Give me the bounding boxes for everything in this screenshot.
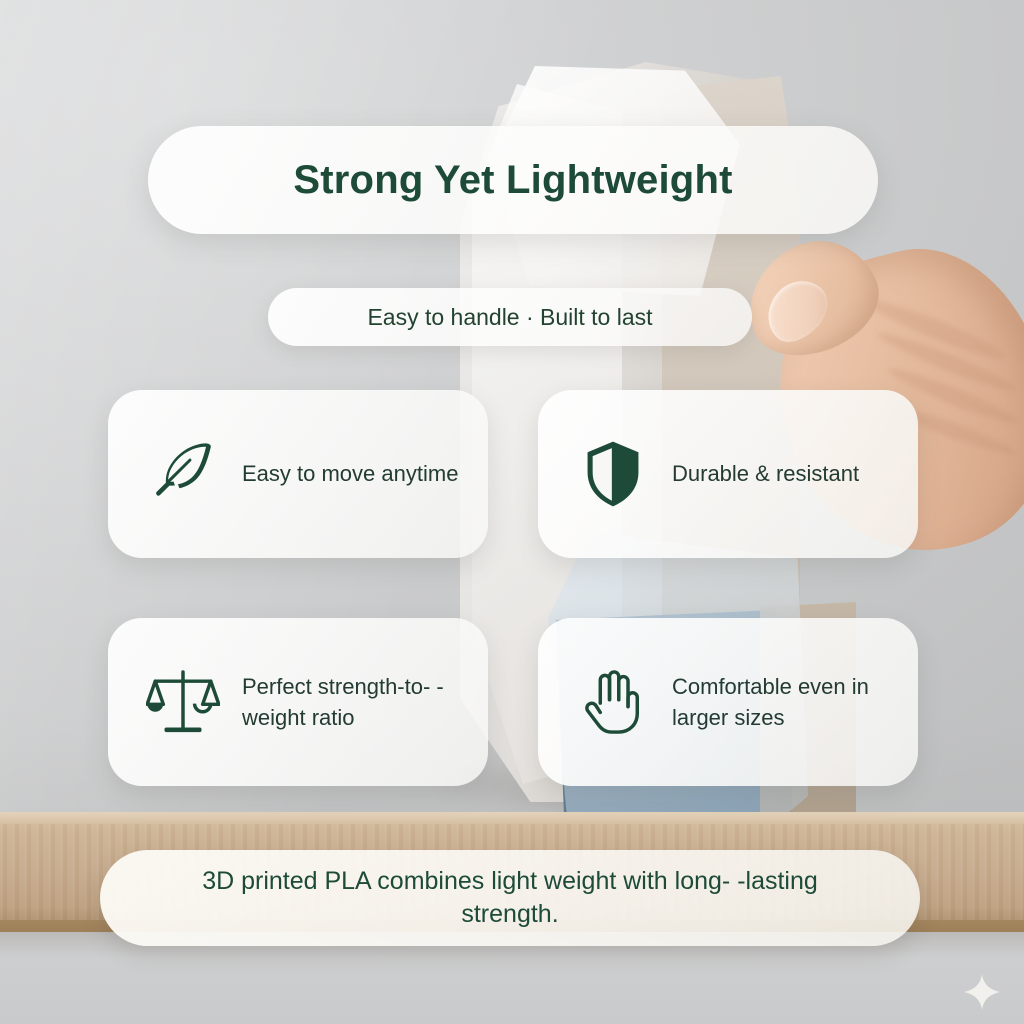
page-subtitle: Easy to handle · Built to last [367, 304, 652, 331]
title-pill: Strong Yet Lightweight [148, 126, 878, 234]
caption-text: 3D printed PLA combines light weight wit… [160, 865, 860, 932]
feature-label: Durable & resistant [672, 458, 859, 489]
feature-card-comfortable[interactable]: Comfortable even in larger sizes [538, 618, 918, 786]
feather-icon [144, 435, 222, 513]
feature-label: Perfect strength-to- -weight ratio [242, 671, 466, 733]
page-title: Strong Yet Lightweight [293, 158, 732, 203]
scales-icon [144, 663, 222, 741]
caption-pill: 3D printed PLA combines light weight wit… [100, 850, 920, 946]
feature-label: Comfortable even in larger sizes [672, 671, 896, 733]
hand-icon [574, 663, 652, 741]
overlay-ui: Strong Yet Lightweight Easy to handle · … [0, 0, 1024, 1024]
sparkle-icon [962, 972, 1002, 1012]
feature-card-durable[interactable]: Durable & resistant [538, 390, 918, 558]
feature-card-easy-to-move[interactable]: Easy to move anytime [108, 390, 488, 558]
shield-icon [574, 435, 652, 513]
infographic-stage: Strong Yet Lightweight Easy to handle · … [0, 0, 1024, 1024]
subtitle-pill: Easy to handle · Built to last [268, 288, 752, 346]
feature-label: Easy to move anytime [242, 458, 458, 489]
feature-card-strength-ratio[interactable]: Perfect strength-to- -weight ratio [108, 618, 488, 786]
